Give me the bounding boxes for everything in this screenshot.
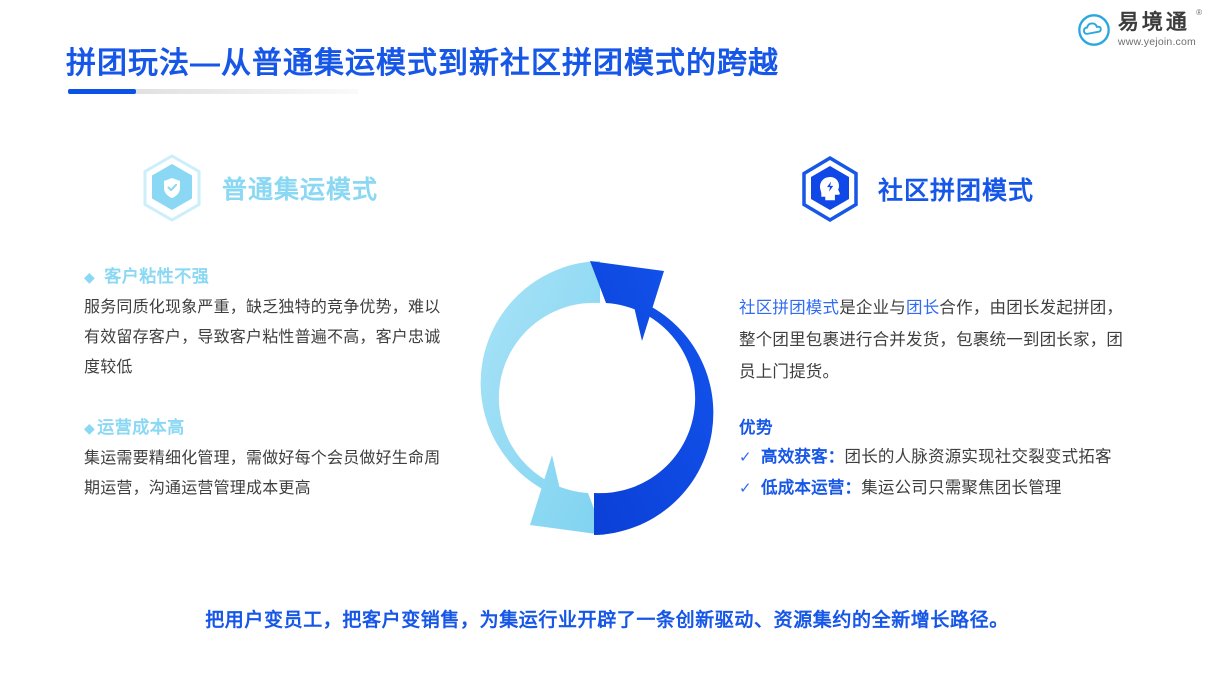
left-column-header: 普通集运模式 [136,152,378,224]
head-lightning-hexagon-icon [796,155,864,223]
cloud-in-circle-icon [1077,13,1111,47]
model-description: 社区拼团模式是企业与团长合作，由团长发起拼团，整个团里包裹进行合并发货，包裹统一… [739,292,1139,388]
footer-summary: 把用户变员工，把客户变销售，为集运行业开辟了一条创新驱动、资源集约的全新增长路径… [0,605,1214,632]
check-icon: ✓ [739,473,761,504]
advantage-text: 低成本运营：集运公司只需聚焦团长管理 [761,473,1139,504]
title-underline-accent [68,89,136,94]
pain-point-heading: ◆ 运营成本高 [84,413,456,438]
title-underline [68,89,358,94]
pain-point-heading-label: 客户粘性不强 [104,262,209,287]
left-column-content: ◆ 客户粘性不强 服务同质化现象严重，缺乏独特的竞争优势，难以有效留存客户，导致… [84,262,456,504]
brand-logo: 易境通 ® www.yejoin.com [1077,12,1196,48]
diamond-bullet-icon: ◆ [84,270,95,284]
check-icon: ✓ [739,442,761,473]
highlight-term-model: 社区拼团模式 [739,299,839,317]
advantages-heading: 优势 [739,414,1139,438]
pain-point-body: 集运需要精细化管理，需做好每个会员做好生命周期运营，沟通运营管理成本更高 [84,444,456,504]
advantages-list: ✓ 高效获客：团长的人脉资源实现社交裂变式拓客 ✓ 低成本运营：集运公司只需聚焦… [739,442,1139,504]
diamond-bullet-icon: ◆ [84,421,95,435]
advantage-detail: 集运公司只需聚焦团长管理 [861,479,1061,497]
registered-trademark-mark: ® [1196,9,1205,17]
right-column-content: 社区拼团模式是企业与团长合作，由团长发起拼团，整个团里包裹进行合并发货，包裹统一… [739,292,1139,504]
dark-arrow [590,261,713,535]
pain-point-heading: ◆ 客户粘性不强 [84,262,456,287]
light-arrow [481,261,604,535]
pain-point-body: 服务同质化现象严重，缺乏独特的竞争优势，难以有效留存客户，导致客户粘性普遍不高，… [84,293,456,383]
advantage-text: 高效获客：团长的人脉资源实现社交裂变式拓客 [761,442,1139,473]
page-title: 拼团玩法—从普通集运模式到新社区拼团模式的跨越 [66,38,779,82]
circular-transition-arrows [452,243,742,553]
list-item: ✓ 高效获客：团长的人脉资源实现社交裂变式拓客 [739,442,1139,473]
advantage-label: 高效获客： [761,448,845,466]
pain-point-heading-label: 运营成本高 [97,413,185,438]
advantage-detail: 团长的人脉资源实现社交裂变式拓客 [845,448,1112,466]
shield-check-hexagon-icon [136,152,208,224]
list-item: ✓ 低成本运营：集运公司只需聚焦团长管理 [739,473,1139,504]
advantage-label: 低成本运营： [761,479,861,497]
highlight-term-leader: 团长 [906,299,939,317]
right-column-header: 社区拼团模式 [796,155,1034,223]
pain-point-block: ◆ 运营成本高 集运需要精细化管理，需做好每个会员做好生命周期运营，沟通运营管理… [84,413,456,504]
right-column-title: 社区拼团模式 [878,171,1034,207]
pain-point-block: ◆ 客户粘性不强 服务同质化现象严重，缺乏独特的竞争优势，难以有效留存客户，导致… [84,262,456,383]
logo-url: www.yejoin.com [1118,37,1196,48]
logo-wordmark: 易境通 [1118,11,1190,34]
description-part-2: 是企业与 [839,299,906,317]
left-column-title: 普通集运模式 [222,170,378,206]
